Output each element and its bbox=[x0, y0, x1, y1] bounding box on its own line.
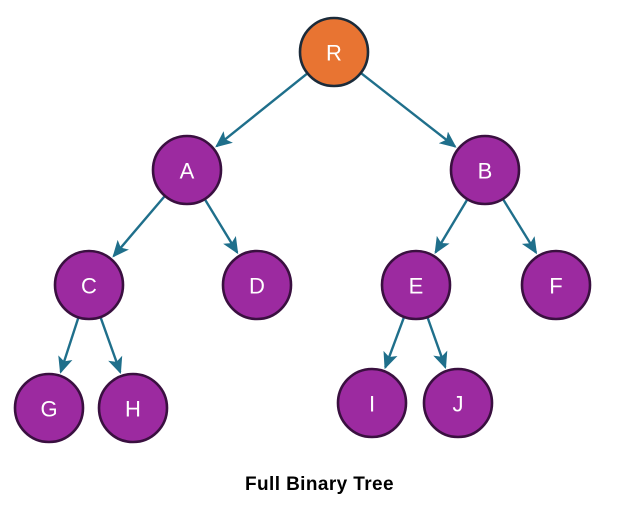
tree-edge-b-f bbox=[503, 200, 536, 253]
node-circle-c[interactable] bbox=[55, 251, 123, 319]
node-circle-a[interactable] bbox=[153, 136, 221, 204]
tree-node-i[interactable]: I bbox=[338, 369, 406, 437]
node-circle-r[interactable] bbox=[300, 18, 368, 86]
tree-node-h[interactable]: H bbox=[99, 374, 167, 442]
node-circle-h[interactable] bbox=[99, 374, 167, 442]
tree-edge-b-e bbox=[436, 200, 467, 252]
node-circle-b[interactable] bbox=[451, 136, 519, 204]
diagram-caption: Full Binary Tree bbox=[0, 474, 639, 496]
tree-edges bbox=[61, 74, 536, 373]
tree-edge-c-h bbox=[101, 318, 120, 372]
node-circle-f[interactable] bbox=[522, 251, 590, 319]
tree-node-a[interactable]: A bbox=[153, 136, 221, 204]
tree-node-j[interactable]: J bbox=[424, 369, 492, 437]
node-circle-j[interactable] bbox=[424, 369, 492, 437]
tree-node-c[interactable]: C bbox=[55, 251, 123, 319]
tree-edge-a-c bbox=[114, 197, 165, 256]
tree-edge-a-d bbox=[205, 200, 237, 253]
tree-node-r[interactable]: R bbox=[300, 18, 368, 86]
tree-canvas: RABCDEFGHIJ bbox=[0, 0, 639, 508]
tree-node-f[interactable]: F bbox=[522, 251, 590, 319]
tree-edge-e-i bbox=[385, 318, 403, 368]
node-circle-g[interactable] bbox=[15, 374, 83, 442]
tree-edge-e-j bbox=[428, 318, 446, 367]
tree-nodes: RABCDEFGHIJ bbox=[15, 18, 590, 442]
node-circle-e[interactable] bbox=[382, 251, 450, 319]
tree-node-b[interactable]: B bbox=[451, 136, 519, 204]
tree-node-d[interactable]: D bbox=[223, 251, 291, 319]
node-circle-i[interactable] bbox=[338, 369, 406, 437]
tree-node-e[interactable]: E bbox=[382, 251, 450, 319]
tree-edge-r-b bbox=[362, 74, 455, 147]
tree-edge-r-a bbox=[217, 74, 307, 146]
tree-node-g[interactable]: G bbox=[15, 374, 83, 442]
tree-edge-c-g bbox=[61, 318, 78, 372]
node-circle-d[interactable] bbox=[223, 251, 291, 319]
binary-tree-diagram: RABCDEFGHIJ Full Binary Tree bbox=[0, 0, 639, 508]
